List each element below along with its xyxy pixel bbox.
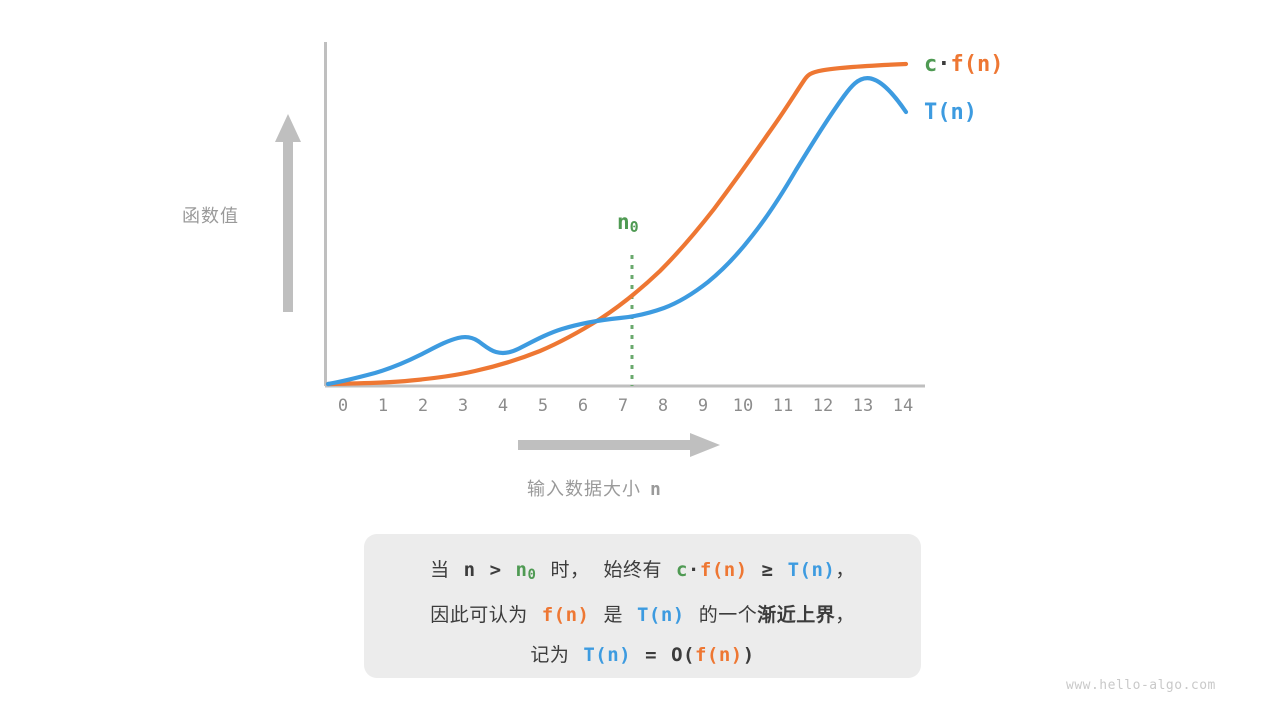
x-tick-10: 10 bbox=[730, 396, 756, 416]
caption-line-1: 当n>n0时，始终有c·f(n)≥T(n)， bbox=[364, 550, 921, 595]
legend-item-t-n: T(n) bbox=[924, 100, 977, 125]
caption2-of-a: 的一个 bbox=[699, 604, 758, 626]
y-axis-arrow bbox=[270, 112, 306, 314]
x-tick-14: 14 bbox=[890, 396, 916, 416]
x-axis-arrow bbox=[518, 432, 722, 458]
caption1-ge-operator: ≥ bbox=[762, 559, 774, 581]
x-tick-1: 1 bbox=[370, 396, 396, 416]
caption3-fn: f(n) bbox=[695, 644, 743, 666]
caption2-therefore: 因此可认为 bbox=[430, 604, 528, 626]
caption2-upper-bound-term: 渐近上界 bbox=[757, 604, 835, 626]
caption1-n0-subscript: 0 bbox=[528, 567, 537, 583]
caption2-tn: T(n) bbox=[637, 604, 685, 626]
x-tick-0: 0 bbox=[330, 396, 356, 416]
caption-line-3: 记为T(n)=O(f(n)) bbox=[364, 635, 921, 675]
caption1-n: n bbox=[464, 559, 476, 581]
x-tick-12: 12 bbox=[810, 396, 836, 416]
x-tick-3: 3 bbox=[450, 396, 476, 416]
legend-item-c-f-n: c·f(n) bbox=[924, 52, 1003, 77]
x-tick-9: 9 bbox=[690, 396, 716, 416]
x-tick-11: 11 bbox=[770, 396, 796, 416]
caption2-is: 是 bbox=[603, 604, 623, 626]
caption3-tn: T(n) bbox=[583, 644, 631, 666]
caption2-fn: f(n) bbox=[542, 604, 590, 626]
x-tick-13: 13 bbox=[850, 396, 876, 416]
legend-fn-symbol: f(n) bbox=[951, 52, 1004, 77]
caption3-close-paren: ) bbox=[743, 644, 755, 666]
legend-dot-symbol: · bbox=[937, 52, 950, 77]
x-tick-8: 8 bbox=[650, 396, 676, 416]
caption-line-2: 因此可认为f(n)是T(n)的一个渐近上界， bbox=[364, 595, 921, 635]
legend-c-symbol: c bbox=[924, 52, 937, 77]
x-tick-7: 7 bbox=[610, 396, 636, 416]
caption3-denoted: 记为 bbox=[530, 644, 569, 666]
x-tick-5: 5 bbox=[530, 396, 556, 416]
watermark: www.hello-algo.com bbox=[1066, 678, 1216, 693]
x-axis-title: 输入数据大小n bbox=[527, 475, 662, 501]
caption1-c: c bbox=[676, 559, 688, 581]
n0-label: n0 bbox=[617, 210, 639, 236]
caption2-comma: ， bbox=[835, 604, 855, 626]
caption3-eq-operator: = bbox=[645, 644, 657, 666]
x-axis-variable: n bbox=[650, 479, 662, 500]
x-tick-4: 4 bbox=[490, 396, 516, 416]
y-axis-title: 函数值 bbox=[182, 202, 239, 228]
x-axis-title-text: 输入数据大小 bbox=[527, 479, 641, 500]
caption1-fn: f(n) bbox=[700, 559, 748, 581]
caption1-tn: T(n) bbox=[788, 559, 836, 581]
caption1-dot: · bbox=[688, 559, 700, 581]
caption3-big-o: O( bbox=[671, 644, 695, 666]
caption1-always: 始终有 bbox=[603, 559, 662, 581]
n0-subscript: 0 bbox=[630, 218, 639, 236]
n0-base: n bbox=[617, 210, 630, 234]
caption1-n0-base: n bbox=[516, 559, 528, 581]
caption1-when: 当 bbox=[430, 559, 450, 581]
caption1-comma: ， bbox=[835, 559, 855, 581]
caption1-gt-operator: > bbox=[490, 559, 502, 581]
caption-box: 当n>n0时，始终有c·f(n)≥T(n)， 因此可认为f(n)是T(n)的一个… bbox=[364, 534, 921, 678]
x-tick-2: 2 bbox=[410, 396, 436, 416]
x-tick-6: 6 bbox=[570, 396, 596, 416]
caption1-shi: 时， bbox=[550, 559, 589, 581]
